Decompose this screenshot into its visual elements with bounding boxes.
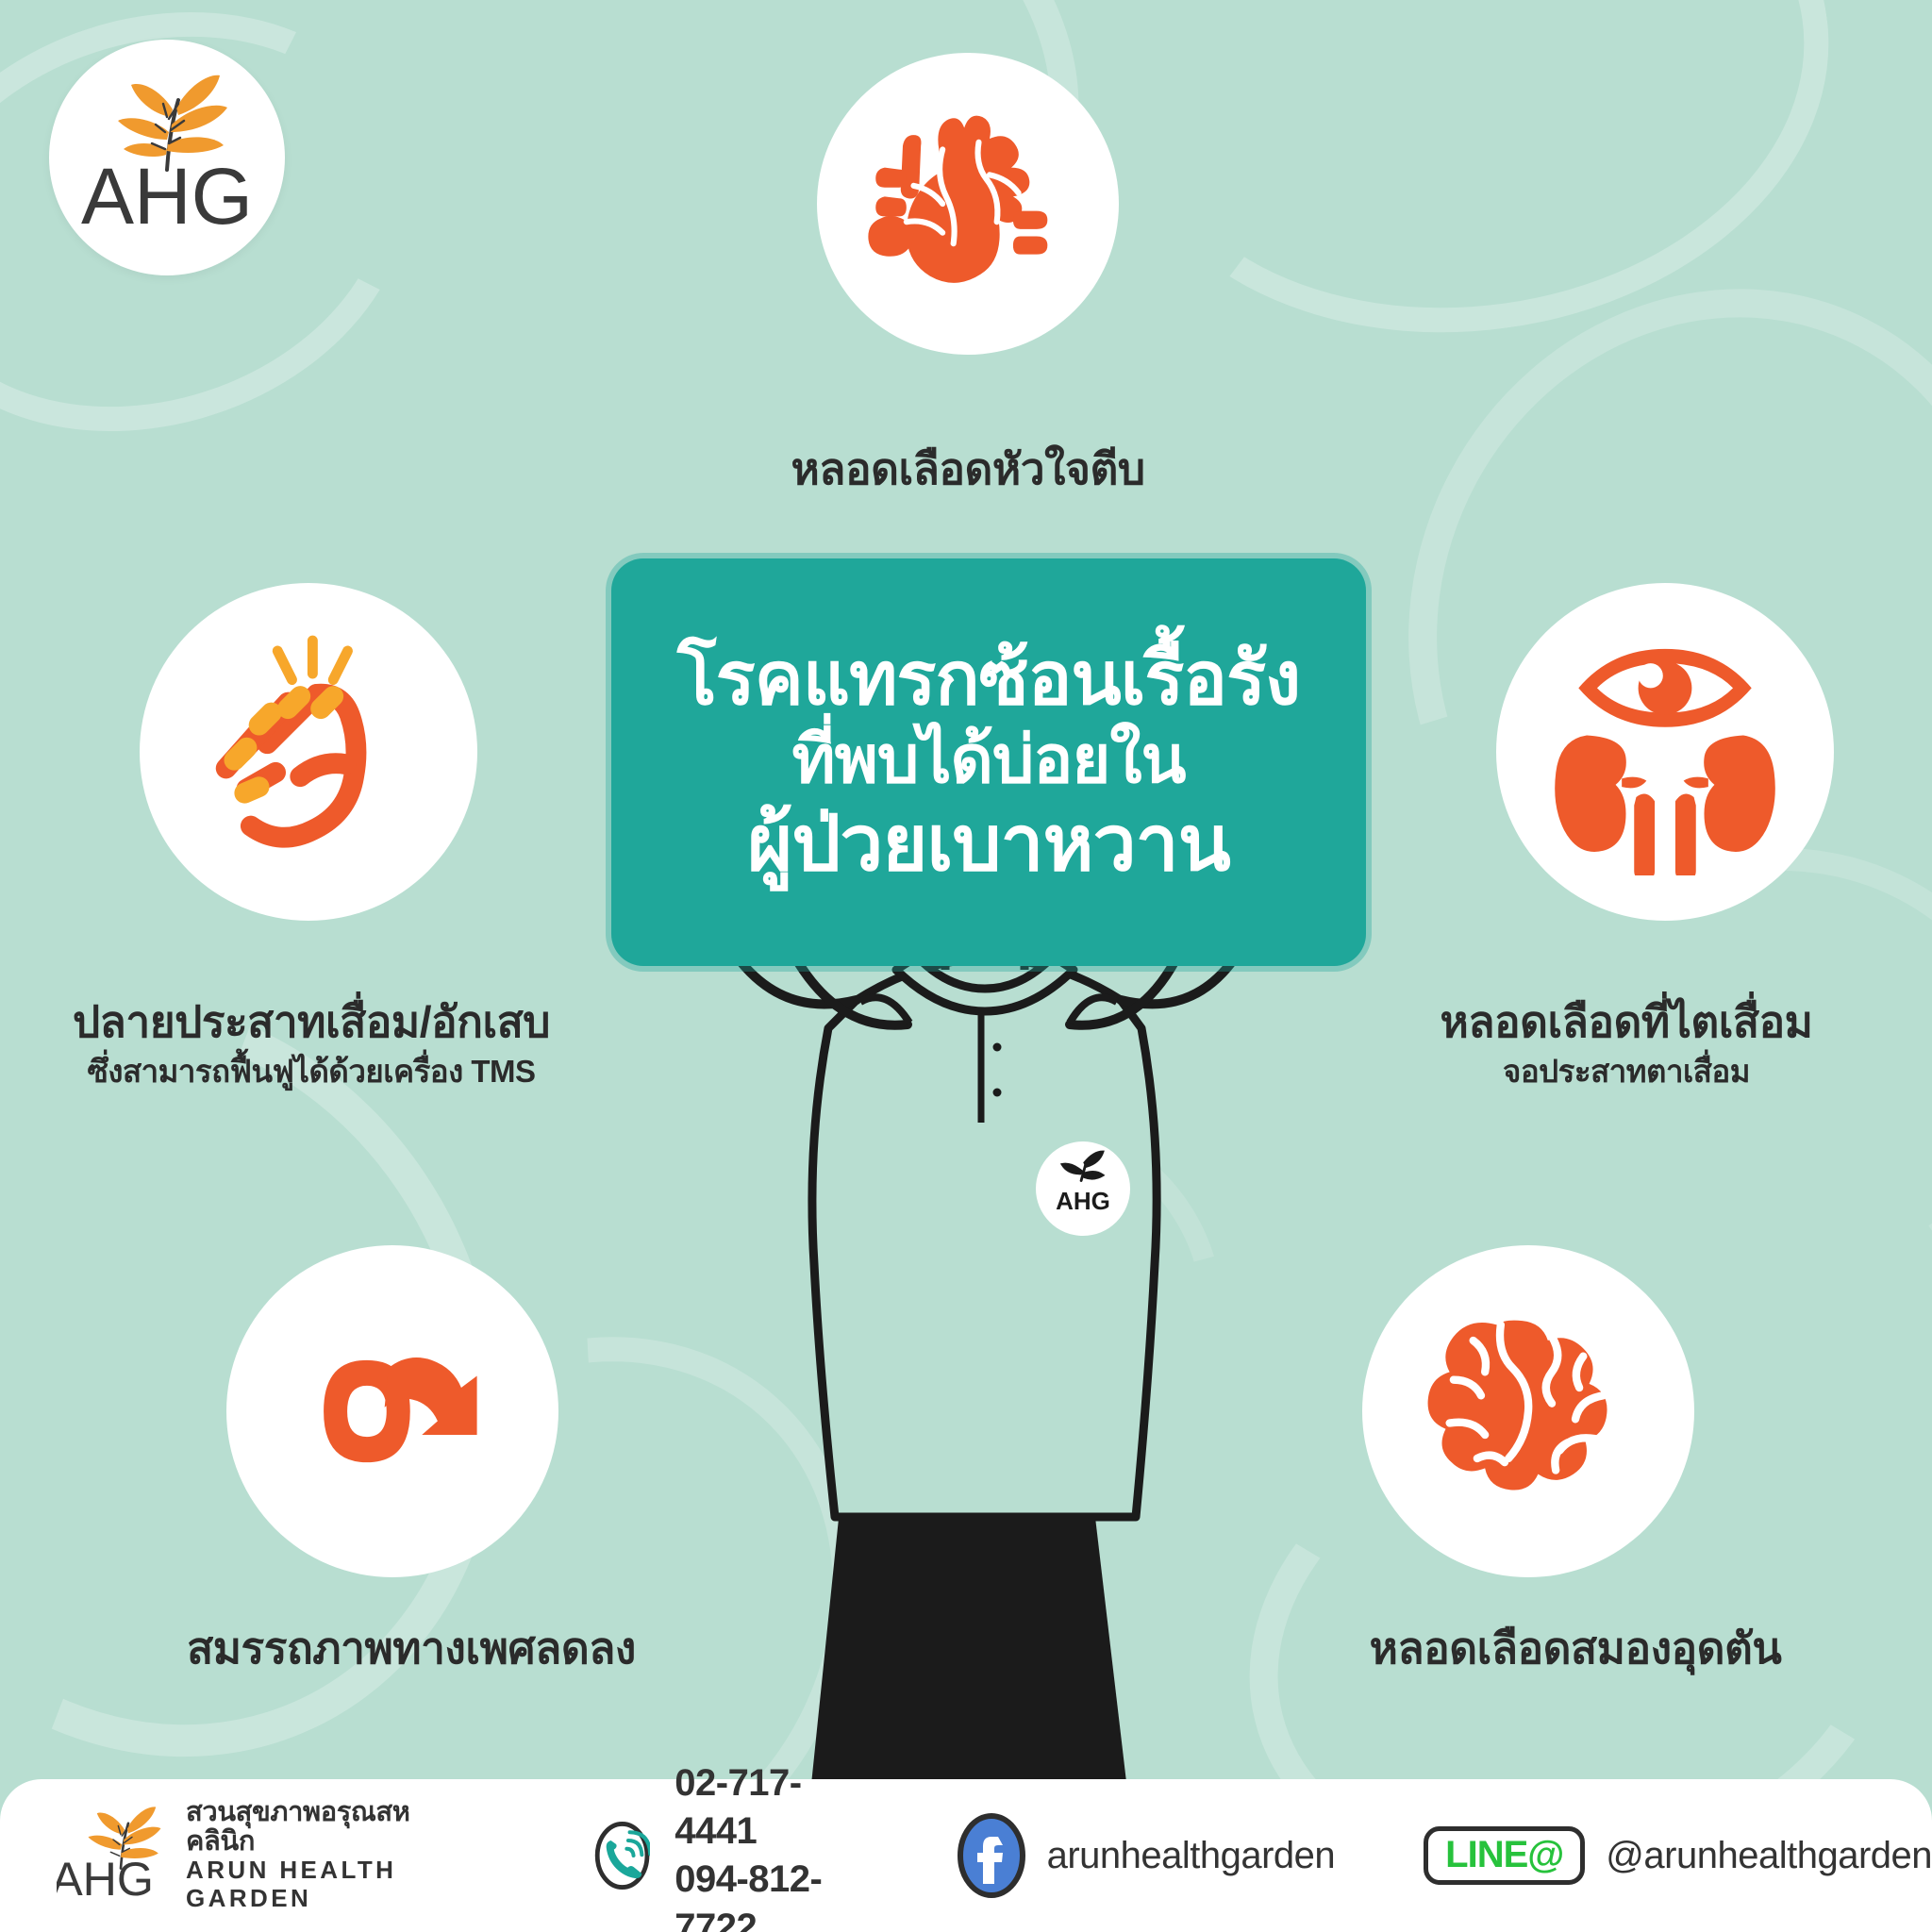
phone-number-1: 02-717-4441 [675,1759,858,1856]
badge-nephropathy-retinopathy [1496,583,1834,921]
title-line-2: ที่พบได้บ่อยใน [792,721,1186,799]
label-nephropathy-retinopathy: หลอดเลือดที่ไตเสื่อม จอประสาทตาเสื่อม [1321,998,1932,1089]
title-line-1: โรคแทรกซ้อนเรื้อรัง [677,636,1300,721]
shirt-brand-initials: AHG [1056,1187,1110,1215]
facebook-handle: arunhealthgarden [1047,1835,1336,1877]
title-line-3: ผู้ป่วยเบาหวาน [747,799,1230,889]
male-symbol-drooping-arrow-icon [275,1293,510,1529]
tingling-hand-icon [185,628,432,875]
badge-erectile-dysfunction [226,1245,558,1577]
phone-number-2: 094-812-7722 [675,1856,858,1932]
footer-phone[interactable]: 02-717-4441 094-812-7722 [594,1759,858,1932]
eye-and-kidneys-icon [1541,628,1789,875]
brain-icon [1410,1293,1646,1529]
phone-ringing-icon [594,1812,650,1899]
person-shirt [812,958,1157,1517]
badge-peripheral-neuropathy [140,583,477,921]
brand-initials: AHG [81,152,253,241]
label-subtext: จอประสาทตาเสื่อม [1321,1055,1932,1090]
facebook-icon [957,1812,1026,1899]
leaf-sprig-icon: AHG [57,1799,173,1912]
footer-brand: AHG สวนสุขภาพอรุณสหคลินิก ARUN HEALTH GA… [57,1798,466,1913]
label-text: หลอดเลือดหัวใจตีบ [628,445,1307,494]
footer-facebook[interactable]: arunhealthgarden [957,1812,1336,1899]
infographic-poster: AHG หลอดเลือดหัวใจตีบ [0,0,1932,1932]
leaf-sprig-icon: AHG [68,58,266,257]
footer-brand-initials: AHG [57,1853,154,1906]
line-at-icon: LINE@ [1424,1826,1585,1885]
shirt-button [993,1089,1002,1097]
label-text: หลอดเลือดที่ไตเสื่อม [1321,998,1932,1047]
clinic-name-english: ARUN HEALTH GARDEN [186,1857,466,1913]
shirt-brand-badge: AHG [1036,1141,1130,1236]
label-coronary-artery-disease: หลอดเลือดหัวใจตีบ [628,445,1307,494]
badge-stroke [1362,1245,1694,1577]
footer-contact-bar: AHG สวนสุขภาพอรุณสหคลินิก ARUN HEALTH GA… [0,1779,1932,1932]
clinic-name-thai: สวนสุขภาพอรุณสหคลินิก [186,1798,466,1857]
brand-logo-badge: AHG [49,40,285,275]
line-handle: @arunhealthgarden [1606,1835,1932,1877]
anatomical-heart-icon [859,95,1076,312]
main-title-card: โรคแทรกซ้อนเรื้อรัง ที่พบได้บ่อยใน ผู้ป่… [611,558,1366,966]
footer-line[interactable]: LINE@ @arunhealthgarden [1424,1826,1932,1885]
shirt-button [993,1043,1002,1052]
badge-coronary-artery-disease [817,53,1119,355]
